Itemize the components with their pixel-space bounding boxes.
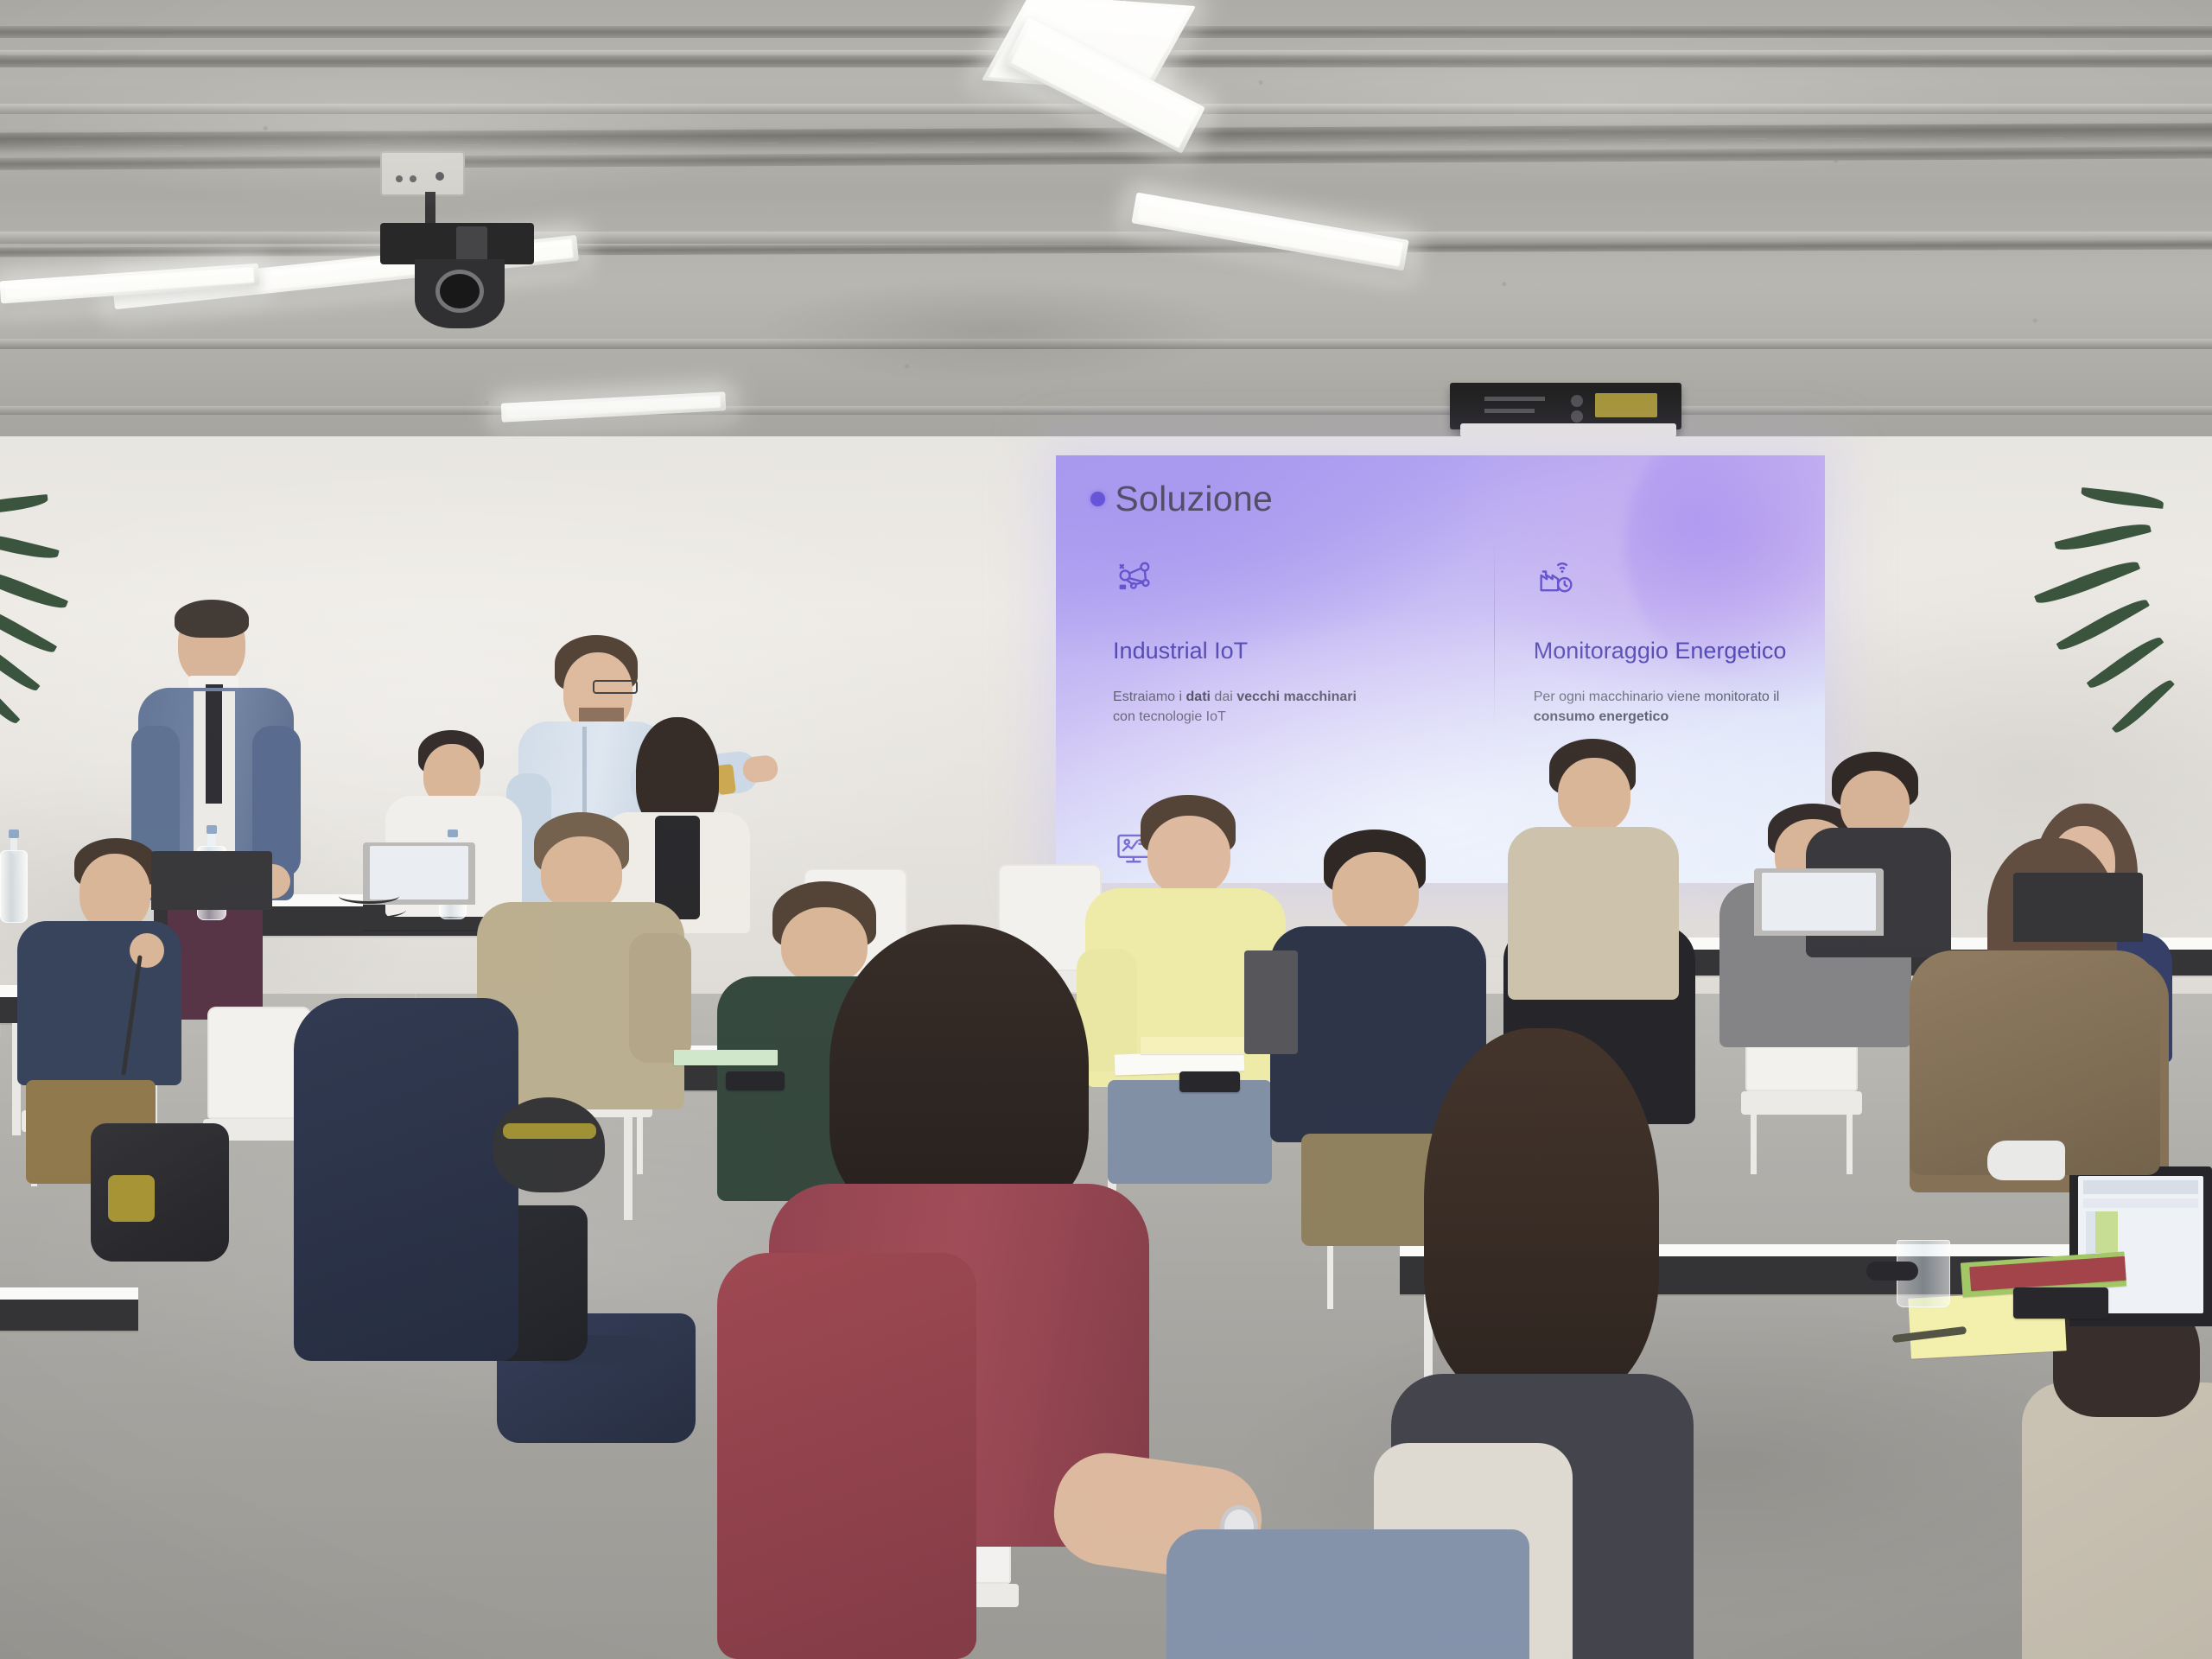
marker-pen[interactable] — [1866, 1262, 1918, 1281]
necktie-front — [206, 691, 222, 804]
ceiling-light-4 — [112, 235, 579, 309]
iot-network-icon — [1113, 555, 1158, 600]
dark-jacket-on-chair — [294, 998, 518, 1361]
concrete-texture — [0, 0, 2212, 458]
backpack-logo — [108, 1175, 155, 1222]
phone-on-table-1[interactable] — [1179, 1071, 1240, 1092]
card-description: Estraiamo i dati dai vecchi macchinari c… — [1113, 687, 1372, 727]
slide-header: Soluzione — [1090, 479, 1790, 519]
audience-beige-blazer — [1508, 739, 1681, 1024]
slide-title: Soluzione — [1115, 479, 1273, 519]
water-bottle-2[interactable] — [0, 829, 28, 923]
tablet-upright[interactable] — [1244, 950, 1298, 1054]
paper-sheet-2 — [1141, 1037, 1244, 1054]
card-description: Per ogni macchinario viene monitorato il… — [1534, 687, 1787, 727]
slab-joint-4 — [0, 339, 2212, 349]
ceiling-pipe-1 — [0, 26, 2212, 38]
slab-joint-5 — [0, 406, 2212, 415]
sneaker — [1987, 1141, 2065, 1180]
camera-mount-stem — [425, 192, 435, 228]
ptz-camera-dome — [415, 259, 505, 328]
ceiling-beam-1 — [0, 123, 2212, 147]
red-jacket-on-shoulder — [717, 1253, 976, 1659]
plant-left — [0, 518, 78, 760]
hair — [175, 600, 249, 638]
ceiling-light-2 — [1005, 17, 1205, 154]
ceiling-light-6 — [501, 391, 727, 423]
ceiling-light-5 — [0, 264, 260, 304]
plant-right — [2134, 510, 2212, 769]
slide-card-monitoraggio-energetico: Monitoraggio Energetico Per ogni macchin… — [1494, 532, 1816, 735]
audience-maroon-shirt-foreground — [734, 925, 1270, 1659]
paper-sheet-3 — [674, 1050, 778, 1065]
cable-2 — [339, 888, 399, 904]
ceiling — [0, 0, 2212, 458]
jeans — [1166, 1529, 1529, 1659]
helmet-on-chair — [493, 1097, 605, 1192]
ceiling-pipe-3 — [0, 146, 2212, 170]
hair — [829, 925, 1089, 1218]
ceiling-light-1 — [982, 0, 1196, 92]
electrical-junction-box — [380, 151, 465, 196]
slab-joint-1 — [0, 50, 2212, 59]
ptz-camera-head — [456, 226, 487, 266]
slab-joint-3 — [0, 232, 2212, 244]
ptz-camera-lens — [435, 270, 484, 313]
ptz-camera-body — [380, 223, 534, 264]
ceiling-light-3 — [1131, 192, 1408, 270]
factory-wifi-icon — [1534, 555, 1579, 600]
ceiling-pipe-4 — [0, 239, 2212, 257]
projector-lens-housing — [1460, 423, 1676, 437]
helmet-stripe — [503, 1123, 596, 1139]
ceiling-projector — [1450, 383, 1681, 429]
laptop-far-right[interactable] — [2013, 873, 2143, 942]
phone-on-table-3[interactable] — [2013, 1287, 2108, 1319]
photo-scene: Soluzione Industrial IoT — [0, 0, 2212, 1659]
light-hanger-1 — [1123, 0, 1126, 35]
slide-bullet-icon — [1090, 492, 1105, 506]
laptop-left-table[interactable] — [151, 851, 272, 910]
audience-foreground-right — [2022, 1313, 2212, 1659]
slide-card-industrial-iot: Industrial IoT Estraiamo i dati dai vecc… — [1090, 532, 1494, 735]
glasses — [593, 680, 638, 694]
phone-on-table-2[interactable] — [726, 1071, 785, 1090]
table-front-left — [0, 1287, 138, 1331]
slab-joint-2 — [0, 104, 2212, 114]
laptop-right-back[interactable] — [1754, 868, 1884, 936]
card-title: Monitoraggio Energetico — [1534, 638, 1787, 664]
ceiling-pipe-2 — [0, 55, 2212, 67]
card-title: Industrial IoT — [1113, 638, 1465, 664]
hair — [1424, 1028, 1659, 1400]
